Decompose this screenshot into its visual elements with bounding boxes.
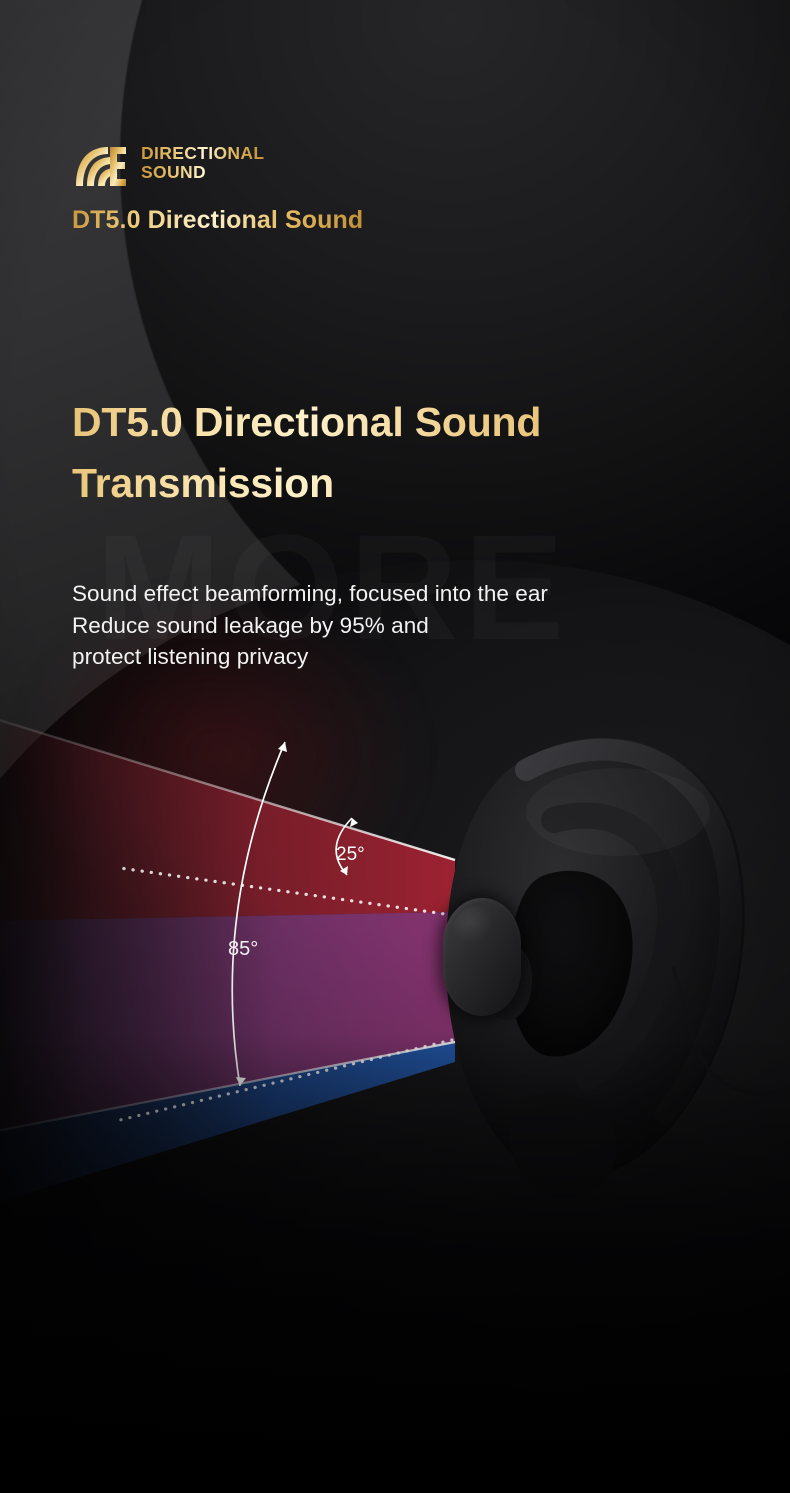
headline-line-2: Transmission bbox=[72, 453, 762, 514]
page-title: DT5.0 Directional Sound Transmission bbox=[72, 392, 762, 513]
body-line-3: protect listening privacy bbox=[72, 641, 772, 673]
feature-description: Sound effect beamforming, focused into t… bbox=[72, 578, 772, 673]
body-line-2: Reduce sound leakage by 95% and bbox=[72, 610, 772, 642]
headline-line-1: DT5.0 Directional Sound bbox=[72, 392, 762, 453]
logo-line-1: DIRECTIONAL bbox=[141, 144, 264, 163]
bottom-fade-overlay bbox=[0, 1033, 790, 1493]
poster-canvas: MORE bbox=[0, 0, 790, 1493]
brand-logo-words: DIRECTIONAL SOUND bbox=[141, 143, 264, 181]
logo-line-2: SOUND bbox=[141, 163, 264, 182]
brand-subtitle: DT5.0 Directional Sound bbox=[72, 206, 363, 235]
sound-wave-arcs-icon bbox=[74, 143, 128, 187]
body-line-1: Sound effect beamforming, focused into t… bbox=[72, 578, 772, 610]
brand-logo: DIRECTIONAL SOUND bbox=[74, 143, 264, 187]
